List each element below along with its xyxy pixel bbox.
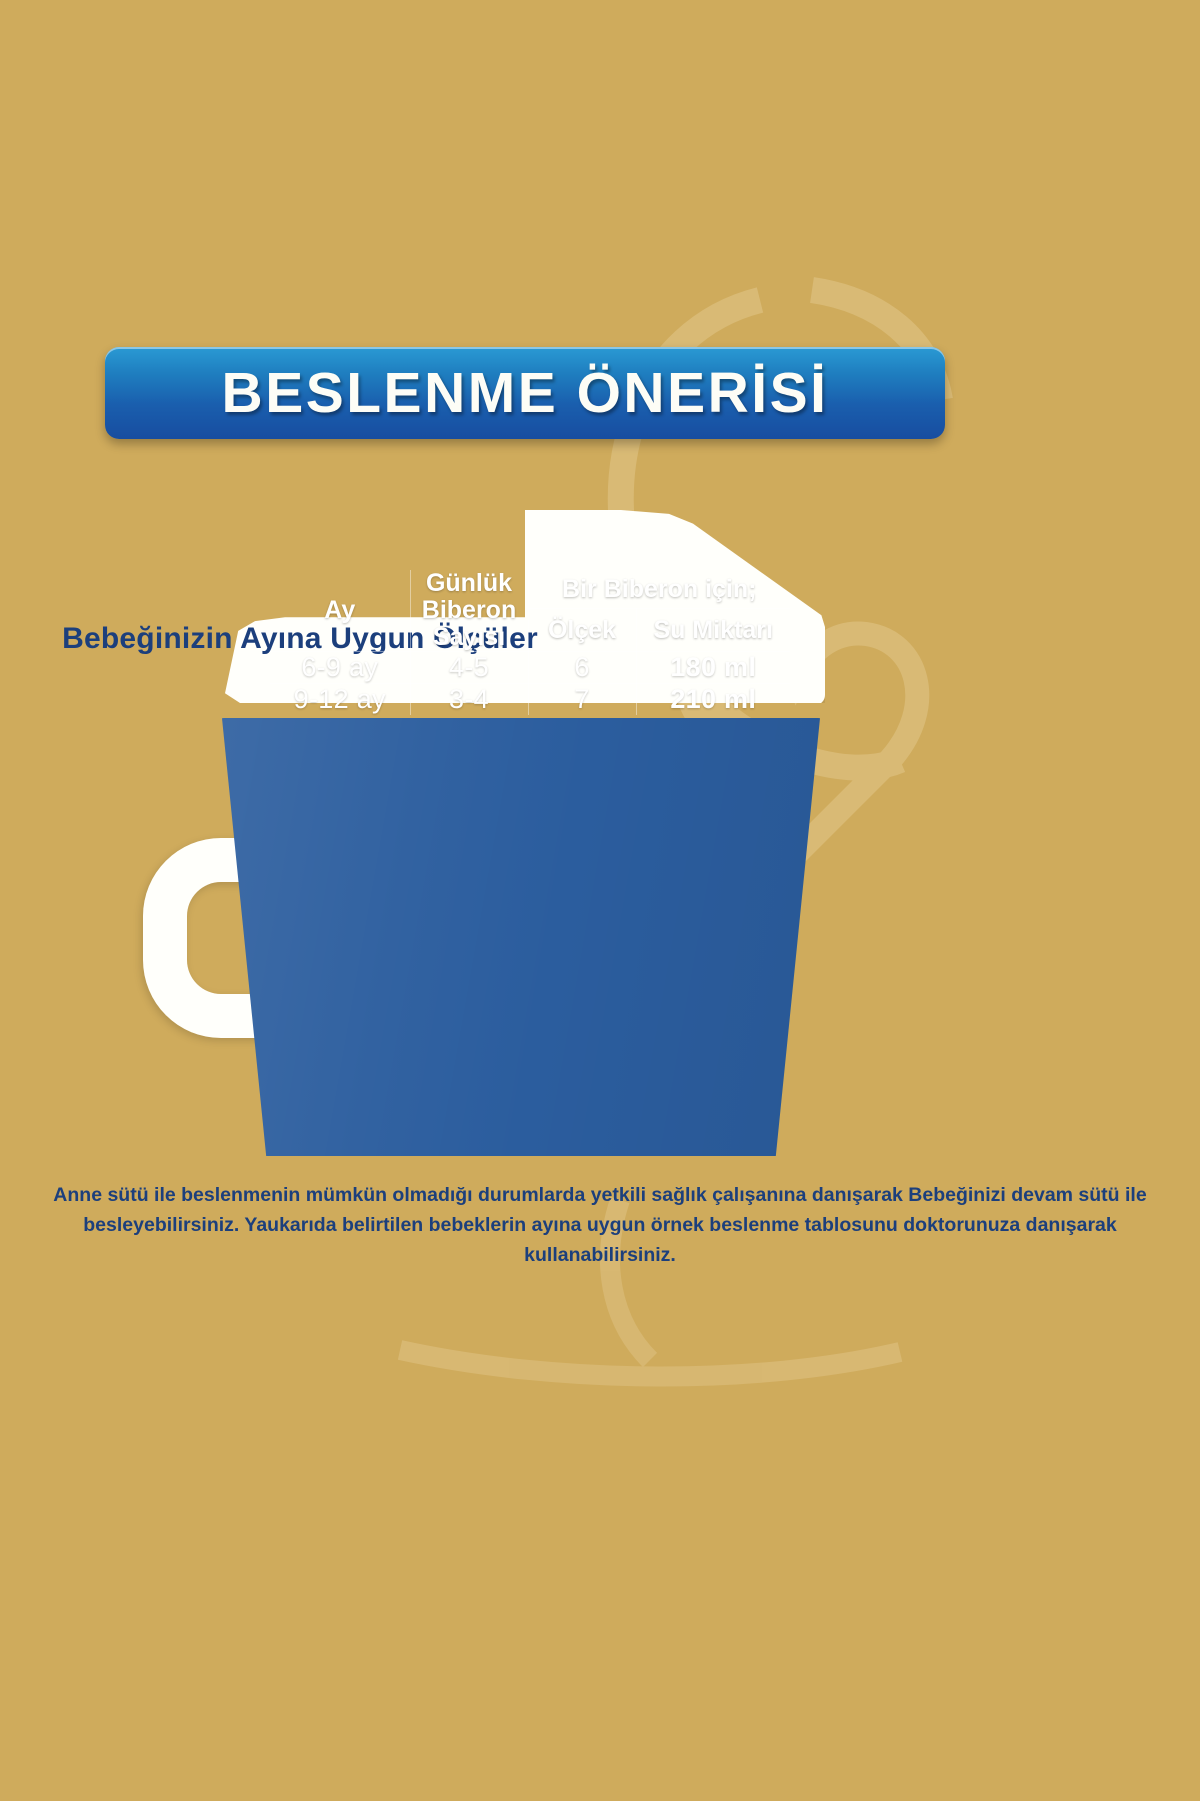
- header-olcek: Ölçek: [528, 609, 636, 652]
- measuring-cup-graphic: Bebeğinizin Ayına Uygun Ölçüler Ay Günlü…: [0, 490, 1200, 1170]
- cup-body: [214, 718, 828, 1156]
- cell-olcek: 7: [528, 684, 636, 716]
- table-row: 9-12 ay 3-4 7 210 ml: [270, 684, 790, 716]
- header-group-bir-biberon-icin: Bir Biberon için;: [528, 570, 790, 609]
- header-daily-bottles: Günlük Biberon Sayısı: [410, 570, 528, 652]
- beslenme-onerisi-banner: BESLENME ÖNERİSİ: [105, 347, 945, 439]
- cell-olcek: 6: [528, 652, 636, 684]
- table-header-row-top: Ay Günlük Biberon Sayısı Bir Biberon içi…: [270, 570, 790, 609]
- cell-daily-bottles: 4-5: [410, 652, 528, 684]
- header-daily-bottles-line3: Sayısı: [411, 624, 528, 651]
- cell-daily-bottles: 3-4: [410, 684, 528, 716]
- header-su-miktari: Su Miktarı: [636, 609, 790, 652]
- feeding-table: Ay Günlük Biberon Sayısı Bir Biberon içi…: [270, 570, 790, 715]
- cell-ay: 9-12 ay: [270, 684, 410, 716]
- cell-su-miktari: 210 ml: [636, 684, 790, 716]
- table-row: 6-9 ay 4-5 6 180 ml: [270, 652, 790, 684]
- disclaimer-text: Anne sütü ile beslenmenin mümkün olmadığ…: [50, 1180, 1150, 1271]
- cell-ay: 6-9 ay: [270, 652, 410, 684]
- header-daily-bottles-line1: Günlük: [411, 570, 528, 597]
- table-body: 6-9 ay 4-5 6 180 ml 9-12 ay 3-4 7 210 ml: [270, 652, 790, 716]
- header-ay: Ay: [270, 570, 410, 652]
- table-head: Ay Günlük Biberon Sayısı Bir Biberon içi…: [270, 570, 790, 652]
- header-daily-bottles-line2: Biberon: [411, 597, 528, 624]
- cell-su-miktari: 180 ml: [636, 652, 790, 684]
- page-title: BESLENME ÖNERİSİ: [222, 360, 829, 426]
